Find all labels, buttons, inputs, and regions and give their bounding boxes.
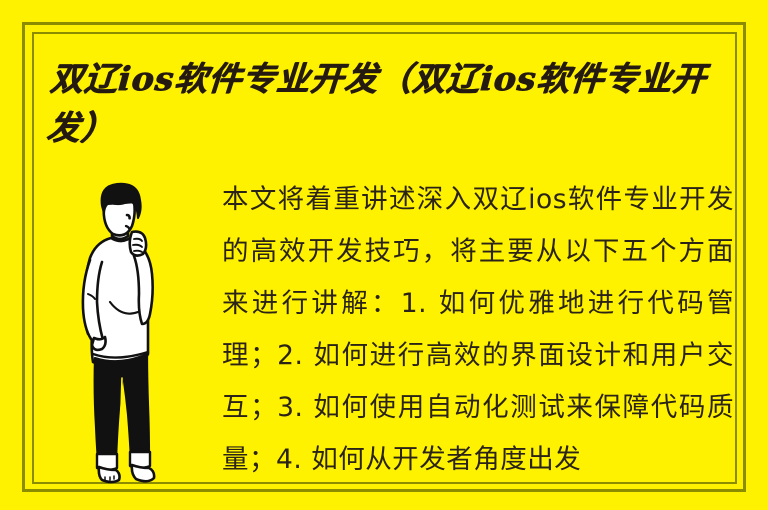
person-line-art-svg [64, 182, 184, 484]
article-card: 双辽ios软件专业开发（双辽ios软件专业开发） [0, 0, 768, 510]
standing-person-illustration [64, 182, 184, 484]
article-body-text: 本文将着重讲述深入双辽ios软件专业开发的高效开发技巧，将主要从以下五个方面来进… [222, 174, 734, 484]
article-body-row: 本文将着重讲述深入双辽ios软件专业开发的高效开发技巧，将主要从以下五个方面来进… [34, 174, 737, 484]
article-title: 双辽ios软件专业开发（双辽ios软件专业开发） [45, 54, 712, 152]
card-content: 双辽ios软件专业开发（双辽ios软件专业开发） [34, 34, 737, 484]
